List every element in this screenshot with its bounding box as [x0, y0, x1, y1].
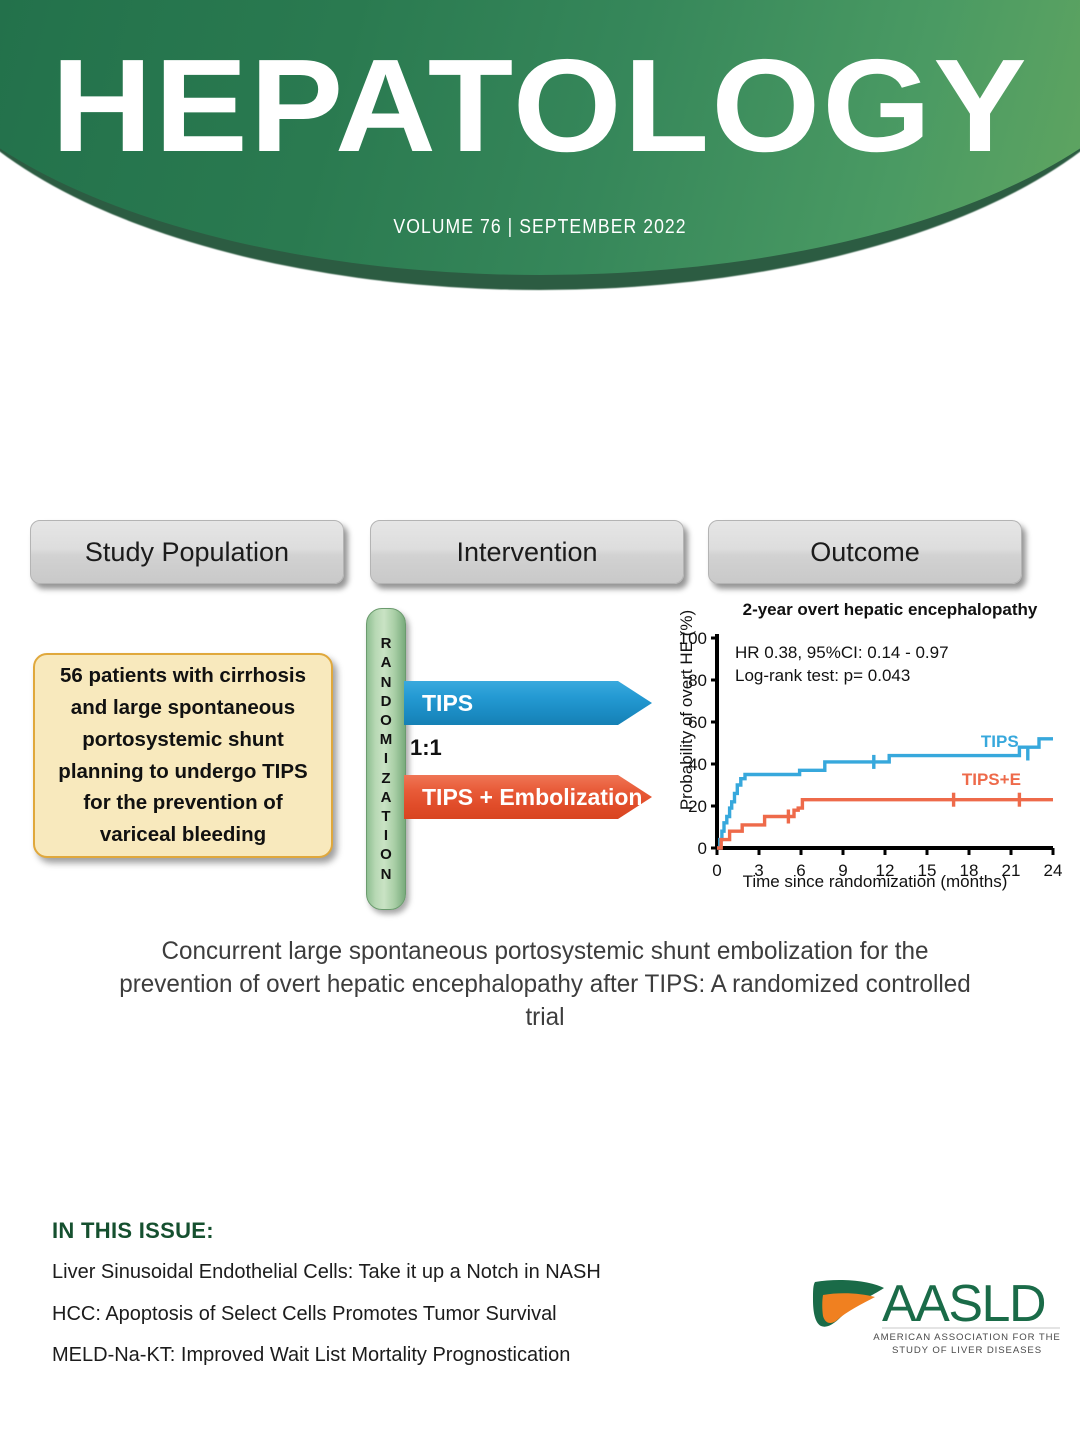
issue-article-item: Liver Sinusoidal Endothelial Cells: Take…	[52, 1260, 672, 1286]
aasld-wordmark-text: AASLD	[882, 1276, 1045, 1332]
column-header-study-population: Study Population	[30, 520, 344, 584]
chart-series-line-tips-e	[717, 800, 1053, 848]
chart-x-tick-label: 12	[876, 861, 895, 880]
cover-article-caption: Concurrent large spontaneous portosystem…	[113, 935, 976, 1034]
chart-x-tick-label: 15	[918, 861, 937, 880]
randomization-letter: M	[380, 730, 393, 749]
chart-x-tick-label: 21	[1002, 861, 1021, 880]
randomization-letter: O	[380, 845, 392, 864]
aasld-logo: AASLD AMERICAN ASSOCIATION FOR THE STUDY…	[812, 1276, 1060, 1358]
chart-legend-label-tips: TIPS	[981, 732, 1019, 751]
liver-mark-orange-icon	[822, 1293, 875, 1323]
chart-legend-label-tips-e: TIPS+E	[962, 770, 1021, 789]
chart-plot-area: 02040608010003691215182124TIPSTIPS+E	[655, 600, 1065, 905]
chart-x-tick-label: 0	[712, 861, 721, 880]
column-header-outcome: Outcome	[708, 520, 1022, 584]
study-population-box: 56 patients with cirrhosis and large spo…	[33, 653, 333, 858]
aasld-logo-subtitle: AMERICAN ASSOCIATION FOR THE STUDY OF LI…	[872, 1332, 1062, 1357]
randomization-bar: R A N D O M I Z A T I O N	[366, 608, 406, 910]
chart-y-tick-label: 100	[679, 629, 707, 648]
randomization-letter: A	[381, 653, 392, 672]
randomization-letter: R	[381, 634, 392, 653]
randomization-letter: N	[381, 865, 392, 884]
randomization-ratio: 1:1	[410, 735, 442, 761]
chart-y-tick-label: 60	[688, 713, 707, 732]
chart-x-tick-label: 18	[960, 861, 979, 880]
column-header-intervention: Intervention	[370, 520, 684, 584]
randomization-letter: Z	[381, 769, 390, 788]
randomization-letter: A	[381, 788, 392, 807]
journal-volume-line: VOLUME 76 | SEPTEMBER 2022	[65, 216, 1015, 239]
randomization-letter: T	[381, 807, 390, 826]
study-flow-diagram: Study Population Intervention Outcome 56…	[0, 505, 1080, 935]
randomization-letter: N	[381, 673, 392, 692]
issue-article-item: HCC: Apoptosis of Select Cells Promotes …	[52, 1302, 672, 1328]
aasld-logo-mark-and-wordmark: AASLD	[812, 1276, 1060, 1332]
chart-x-tick-label: 3	[754, 861, 763, 880]
journal-title: HEPATOLOGY	[0, 40, 1080, 172]
randomization-letter: I	[384, 826, 388, 845]
chart-series-line-tips	[717, 739, 1053, 848]
randomization-letter: O	[380, 711, 392, 730]
kaplan-meier-chart: 2-year overt hepatic encephalopathy Prob…	[655, 600, 1065, 905]
chart-x-tick-label: 9	[838, 861, 847, 880]
issue-article-item: MELD-Na-KT: Improved Wait List Mortality…	[52, 1343, 672, 1369]
in-this-issue-section: IN THIS ISSUE: Liver Sinusoidal Endothel…	[52, 1218, 672, 1385]
randomization-letter: I	[384, 749, 388, 768]
randomization-letter: D	[381, 692, 392, 711]
arm-arrow-tips-embolization: TIPS + Embolization	[404, 775, 652, 819]
in-this-issue-heading: IN THIS ISSUE:	[52, 1218, 672, 1244]
chart-y-tick-label: 40	[688, 755, 707, 774]
chart-x-tick-label: 24	[1044, 861, 1063, 880]
arm-arrow-tips: TIPS	[404, 681, 652, 725]
cover-header: HEPATOLOGY VOLUME 76 | SEPTEMBER 2022	[0, 0, 1080, 300]
chart-y-tick-label: 80	[688, 671, 707, 690]
chart-x-tick-label: 6	[796, 861, 805, 880]
chart-y-tick-label: 0	[698, 839, 707, 858]
chart-y-tick-label: 20	[688, 797, 707, 816]
